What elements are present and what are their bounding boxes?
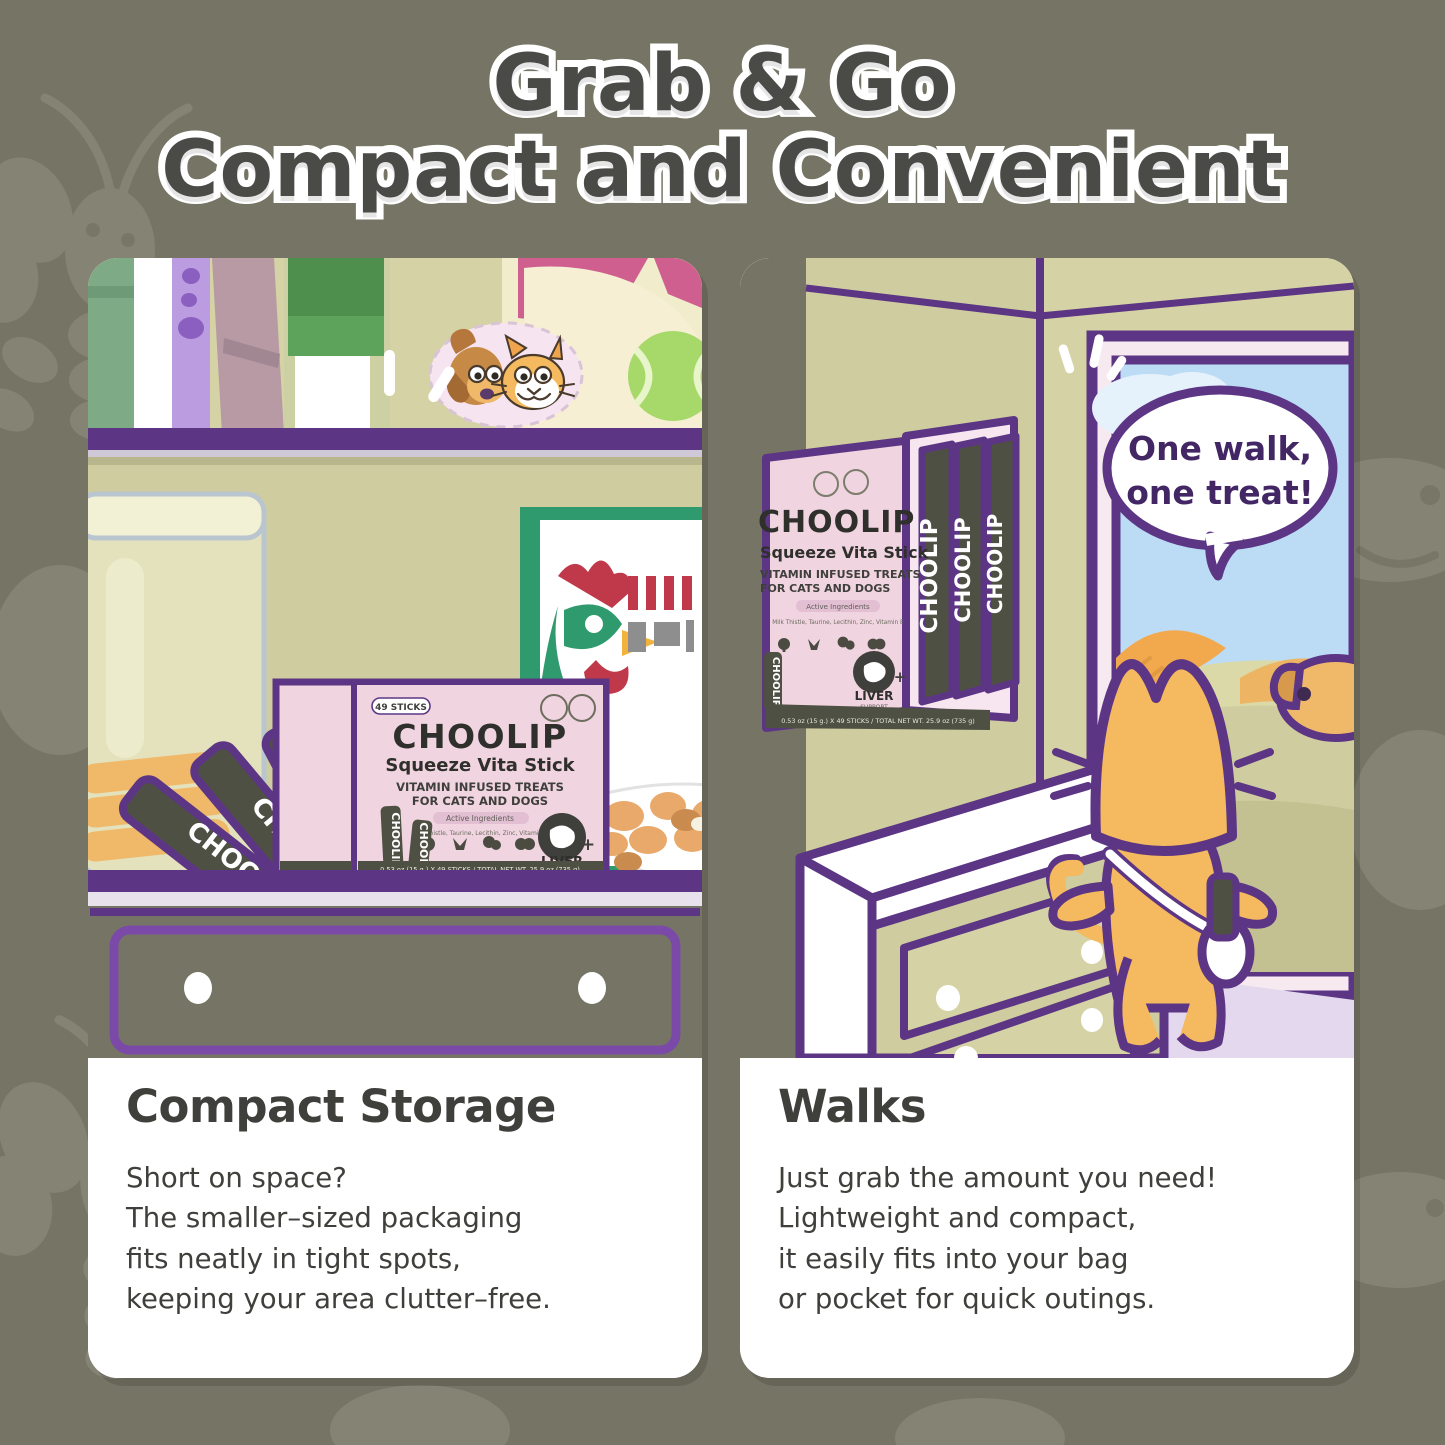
svg-text:+: + xyxy=(581,835,595,855)
card-body: Compact Storage Short on space? The smal… xyxy=(88,1058,702,1378)
svg-text:Active Ingredients: Active Ingredients xyxy=(446,814,514,823)
choolip-package-front: 49 STICKS CHOOLIP Squeeze Vita Stick VIT… xyxy=(276,682,606,878)
svg-text:CHOOLIP: CHOOLIP xyxy=(951,517,975,622)
card-title: Compact Storage xyxy=(126,1080,556,1133)
svg-text:CHOOLIP: CHOOLIP xyxy=(770,657,781,707)
feature-card-compact-storage[interactable]: CHOOLIP CHOOLIP CHOOLIP CHOOLIP xyxy=(88,258,702,1378)
speech-line-1: One walk, xyxy=(1128,429,1312,468)
infographic-root: Grab & Go Compact and Convenient xyxy=(0,0,1445,1445)
svg-text:CHOOLIP: CHOOLIP xyxy=(758,505,915,540)
svg-text:Squeeze Vita Stick: Squeeze Vita Stick xyxy=(760,543,929,562)
svg-text:0.53 oz (15 g.) X 49 STICKS /: 0.53 oz (15 g.) X 49 STICKS / TOTAL NET … xyxy=(781,717,975,725)
svg-text:Active Ingredients: Active Ingredients xyxy=(806,603,870,611)
card-description: Short on space? The smaller–sized packag… xyxy=(126,1158,671,1320)
svg-text:FOR CATS AND DOGS: FOR CATS AND DOGS xyxy=(760,582,890,595)
choolip-carton-open: CHOOLIP CHOOLIP CHOOLIP CHOOLIP Squeeze … xyxy=(758,420,1016,730)
feature-card-walks[interactable]: One walk, one treat! xyxy=(740,258,1354,1378)
svg-text:FOR CATS AND DOGS: FOR CATS AND DOGS xyxy=(412,794,548,808)
svg-text:Milk Thistle, Taurine, Lecithi: Milk Thistle, Taurine, Lecithin, Zinc, V… xyxy=(412,830,548,837)
svg-text:Squeeze Vita Stick: Squeeze Vita Stick xyxy=(385,755,575,776)
svg-text:CHOOLIP: CHOOLIP xyxy=(392,717,567,756)
svg-text:CHOOLIP: CHOOLIP xyxy=(389,812,402,867)
svg-text:LIVER: LIVER xyxy=(855,689,894,703)
svg-text:VITAMIN INFUSED TREATS: VITAMIN INFUSED TREATS xyxy=(760,568,921,581)
svg-text:CHOOLIP: CHOOLIP xyxy=(917,518,943,633)
illustration-pantry-shelf: CHOOLIP CHOOLIP CHOOLIP CHOOLIP xyxy=(88,258,702,1058)
card-description: Just grab the amount you need! Lightweig… xyxy=(778,1158,1323,1320)
svg-text:CHOOLIP: CHOOLIP xyxy=(983,514,1007,614)
card-title: Walks xyxy=(778,1080,926,1133)
svg-text:+: + xyxy=(894,668,907,686)
svg-text:Milk Thistle, Taurine, Lecithi: Milk Thistle, Taurine, Lecithin, Zinc, V… xyxy=(772,620,904,626)
card-body: Walks Just grab the amount you need! Lig… xyxy=(740,1058,1354,1378)
speech-line-2: one treat! xyxy=(1126,473,1314,512)
illustration-doorway-walk: One walk, one treat! xyxy=(740,258,1354,1058)
svg-text:VITAMIN INFUSED TREATS: VITAMIN INFUSED TREATS xyxy=(396,780,564,794)
svg-text:49 STICKS: 49 STICKS xyxy=(375,703,427,713)
